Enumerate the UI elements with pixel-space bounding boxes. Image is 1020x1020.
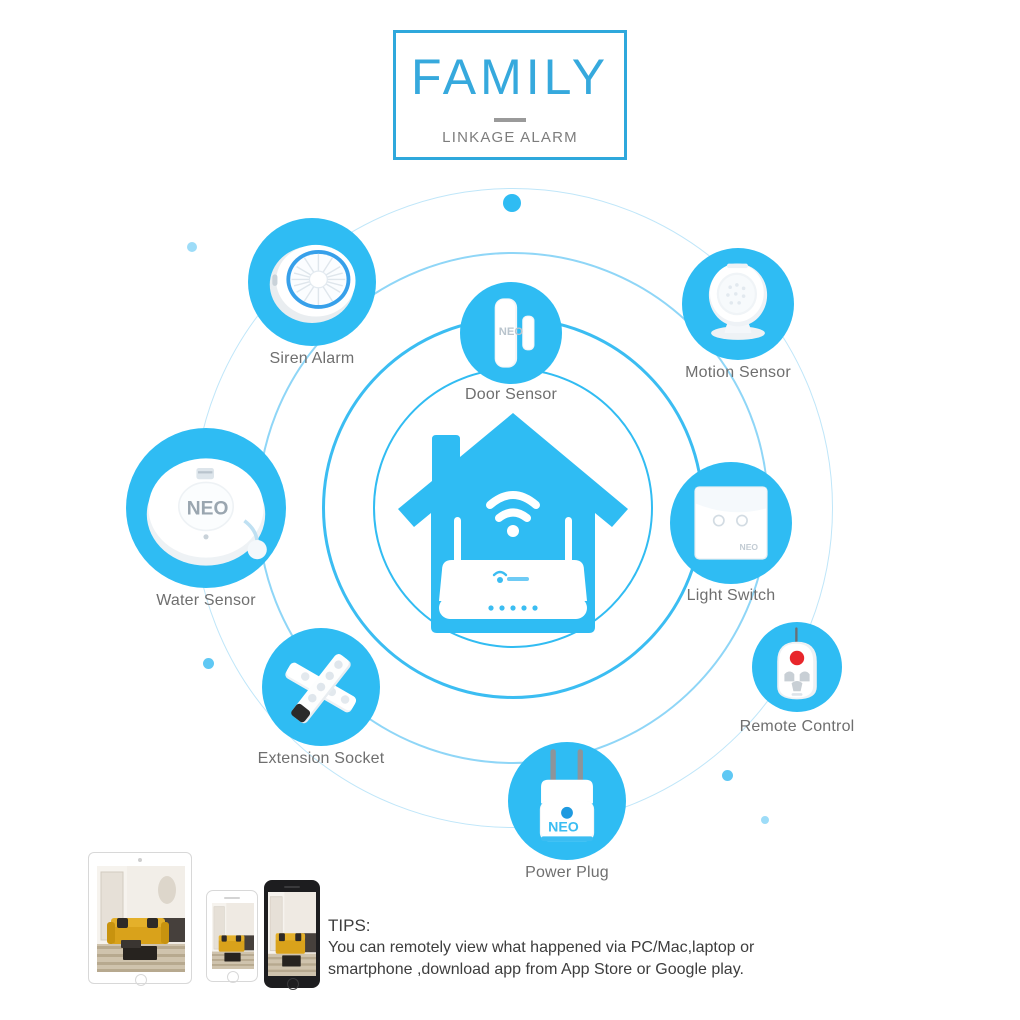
orbit-dot bbox=[203, 658, 214, 669]
light-switch-disc[interactable]: NEO bbox=[670, 462, 792, 584]
door-sensor-disc[interactable]: NEO bbox=[460, 282, 562, 384]
router-antenna-right bbox=[565, 517, 572, 567]
siren-alarm-label: Siren Alarm bbox=[270, 350, 355, 368]
siren-alarm-disc[interactable] bbox=[248, 218, 376, 346]
orbit-dot bbox=[722, 770, 733, 781]
device-node-extension-socket[interactable]: Extension Socket bbox=[262, 628, 380, 774]
black-phone-home-button bbox=[287, 978, 299, 990]
motion-sensor-label: Motion Sensor bbox=[685, 364, 791, 382]
tips-line-2: smartphone ,download app from App Store … bbox=[328, 959, 768, 981]
white-phone-speaker bbox=[224, 897, 240, 899]
tips-line-1: You can remotely view what happened via … bbox=[328, 937, 768, 959]
device-node-remote-control[interactable]: Remote Control bbox=[752, 622, 842, 742]
wifi-dot bbox=[507, 525, 519, 537]
extension-socket-label: Extension Socket bbox=[258, 750, 385, 768]
remote-control-disc[interactable] bbox=[752, 622, 842, 712]
page-subtitle: LINKAGE ALARM bbox=[396, 129, 624, 146]
page-title: FAMILY bbox=[396, 47, 624, 107]
power-plug-disc[interactable]: NEO bbox=[508, 742, 626, 860]
tablet-device-icon bbox=[88, 852, 192, 984]
siren-alarm-icon bbox=[248, 218, 376, 346]
tablet-screen bbox=[97, 866, 185, 972]
water-sensor-icon: NEO bbox=[126, 428, 286, 588]
device-node-motion-sensor[interactable]: Motion Sensor bbox=[682, 248, 794, 388]
title-divider bbox=[494, 118, 526, 122]
device-node-water-sensor[interactable]: NEO Water Sensor bbox=[126, 428, 286, 616]
light-switch-icon: NEO bbox=[670, 462, 792, 584]
living-room-scene bbox=[212, 903, 254, 969]
svg-text:NEO: NEO bbox=[740, 542, 759, 552]
water-sensor-disc[interactable]: NEO bbox=[126, 428, 286, 588]
remote-control-icon bbox=[752, 622, 842, 712]
power-plug-icon: NEO bbox=[508, 742, 626, 860]
extension-socket-icon bbox=[262, 628, 380, 746]
living-room-scene bbox=[97, 866, 185, 972]
tips-block: TIPS: You can remotely view what happene… bbox=[328, 915, 768, 981]
device-node-siren-alarm[interactable]: Siren Alarm bbox=[248, 218, 376, 374]
orbit-dot bbox=[761, 816, 769, 824]
door-sensor-icon: NEO bbox=[460, 282, 562, 384]
motion-sensor-disc[interactable] bbox=[682, 248, 794, 360]
svg-text:NEO: NEO bbox=[187, 498, 229, 519]
device-node-door-sensor[interactable]: NEO Door Sensor bbox=[460, 282, 562, 410]
light-switch-label: Light Switch bbox=[687, 587, 776, 605]
orbit-dot bbox=[187, 242, 197, 252]
router-antenna-left bbox=[454, 517, 461, 567]
living-room-scene bbox=[268, 892, 316, 976]
white-phone-home-button bbox=[227, 971, 239, 983]
black-phone-speaker bbox=[284, 886, 300, 888]
door-sensor-label: Door Sensor bbox=[465, 386, 557, 404]
remote-control-label: Remote Control bbox=[740, 718, 855, 736]
orbit-dot bbox=[503, 194, 521, 212]
black-phone-screen bbox=[268, 892, 316, 976]
tips-title: TIPS: bbox=[328, 915, 768, 937]
tablet-camera bbox=[138, 858, 142, 862]
smart-home-hub bbox=[390, 405, 636, 640]
multi-device-preview bbox=[88, 852, 318, 992]
smart-home-router-icon bbox=[390, 405, 636, 640]
tablet-home-button bbox=[135, 974, 147, 986]
water-sensor-label: Water Sensor bbox=[156, 592, 256, 610]
svg-text:NEO: NEO bbox=[548, 820, 579, 836]
device-node-light-switch[interactable]: NEOLight Switch bbox=[670, 462, 792, 611]
smartphone-black-icon bbox=[264, 880, 320, 988]
extension-socket-disc[interactable] bbox=[262, 628, 380, 746]
white-phone-screen bbox=[212, 903, 254, 969]
power-plug-label: Power Plug bbox=[525, 864, 609, 882]
smartphone-white-icon bbox=[206, 890, 258, 982]
device-node-power-plug[interactable]: NEO Power Plug bbox=[508, 742, 626, 888]
svg-text:NEO: NEO bbox=[499, 326, 524, 338]
motion-sensor-icon bbox=[682, 248, 794, 360]
header-title-box: FAMILY LINKAGE ALARM bbox=[393, 30, 627, 160]
